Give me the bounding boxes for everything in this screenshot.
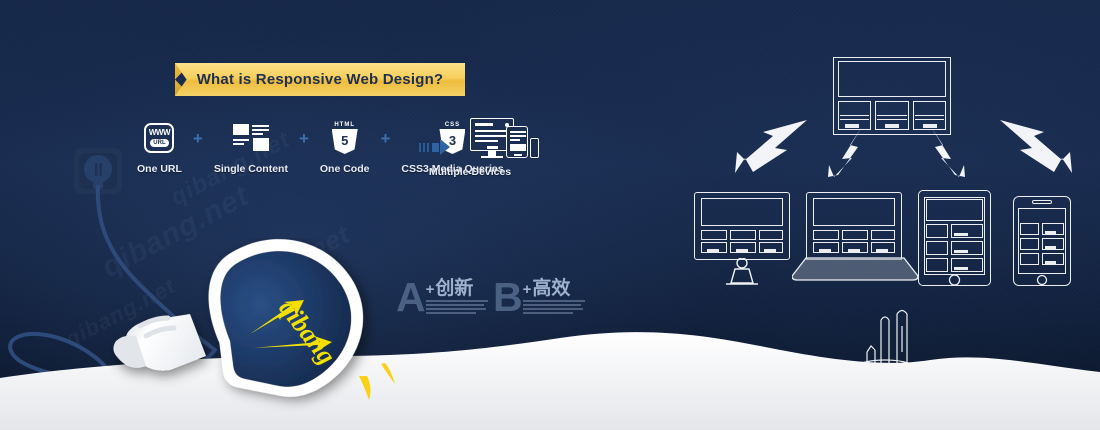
lightbulb-icon xyxy=(110,238,400,418)
html5-tag: HTML xyxy=(334,122,355,129)
arrow-to-tablet xyxy=(925,125,965,180)
arrow-to-laptop xyxy=(828,125,868,180)
css3-tag: CSS xyxy=(445,122,460,129)
laptop-base xyxy=(792,256,918,282)
formula-step-label: One URL xyxy=(137,163,182,175)
formula-step-one-code: HTML 5 One Code xyxy=(320,120,370,175)
single-content-icon xyxy=(233,120,269,156)
html5-icon: HTML 5 xyxy=(332,120,358,156)
url-www-text: WWW xyxy=(149,129,170,137)
banner-title: What is Responsive Web Design? xyxy=(197,71,444,88)
arrow-to-desktop xyxy=(735,118,815,178)
formula-step-one-url: WWW URL One URL xyxy=(137,120,182,175)
desktop-stand xyxy=(694,258,790,288)
formula-step-label: One Code xyxy=(320,163,370,175)
formula-step-single-content: Single Content xyxy=(214,120,288,175)
plus-operator: + xyxy=(380,130,390,147)
url-icon: WWW URL xyxy=(144,120,174,156)
feature-title: +创新 xyxy=(426,278,474,299)
plus-operator: + xyxy=(193,130,203,147)
multiple-devices-label: Multiple Devices xyxy=(429,166,511,178)
responsive-web-design-banner: qibang.net qibang.net qibang.net qibang.… xyxy=(0,0,1100,430)
right-arrow-icon xyxy=(419,139,450,155)
plus-operator: + xyxy=(299,130,309,147)
formula-step-label: Single Content xyxy=(214,163,288,175)
laptop-icon xyxy=(806,192,902,262)
phone-home-button xyxy=(1013,272,1071,288)
html5-digit: 5 xyxy=(341,134,348,147)
arrow-to-phone xyxy=(992,118,1072,178)
tablet-home-button xyxy=(918,272,991,288)
browser-wireframe-icon xyxy=(833,57,951,135)
url-pill-text: URL xyxy=(150,139,168,147)
feature-title: +高效 xyxy=(523,278,571,299)
ribbon-banner: What is Responsive Web Design? xyxy=(175,63,465,96)
